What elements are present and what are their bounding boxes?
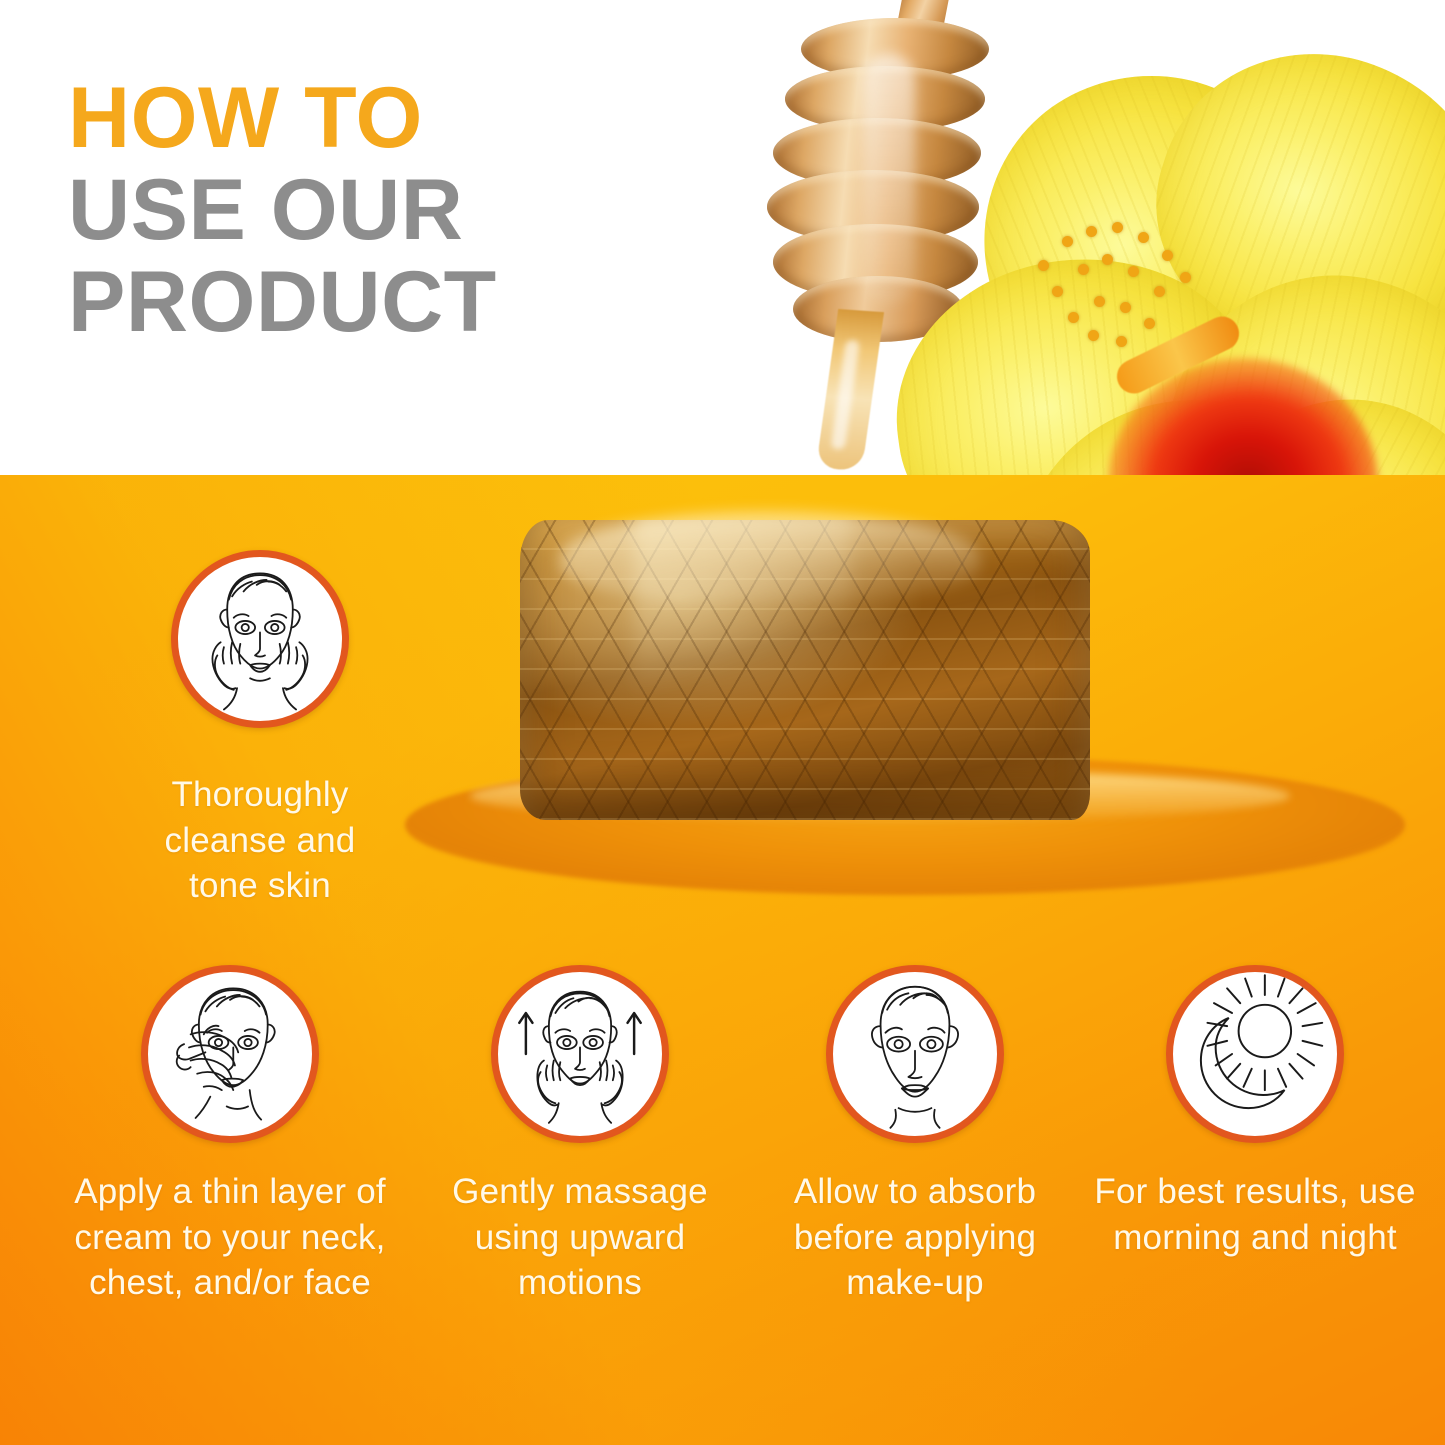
step-caption: For best results, use morning and night — [1090, 1169, 1420, 1260]
sun-and-moon-icon — [1166, 965, 1344, 1143]
face-massage-upward-arrows-icon — [491, 965, 669, 1143]
step-item-2: Apply a thin layer of cream to your neck… — [60, 965, 400, 1306]
step-caption: Gently massage using upward motions — [420, 1169, 740, 1306]
face-apply-cream-one-hand-icon — [141, 965, 319, 1143]
step-caption: Thoroughly cleanse and tone skin — [145, 772, 375, 909]
step-item-4: Allow to absorb before applying make-up — [760, 965, 1070, 1306]
step-item-3: Gently massage using upward motions — [420, 965, 740, 1306]
step-caption: Apply a thin layer of cream to your neck… — [60, 1169, 400, 1306]
title-line-2: USE OUR — [68, 164, 668, 256]
face-cleanse-two-hands-icon — [171, 550, 349, 728]
pollen-cluster — [1028, 220, 1218, 355]
step-item-5: For best results, use morning and night — [1090, 965, 1420, 1260]
header-card: HOW TO USE OUR PRODUCT — [0, 0, 700, 475]
step-item-1: Thoroughly cleanse and tone skin — [145, 550, 375, 909]
face-plain-icon — [826, 965, 1004, 1143]
honeycomb-sheen — [560, 512, 980, 602]
title-line-3: PRODUCT — [68, 256, 668, 348]
hibiscus-flower-icon — [900, 70, 1445, 480]
infographic-canvas: HOW TO USE OUR PRODUCT — [0, 0, 1445, 1445]
step-caption: Allow to absorb before applying make-up — [760, 1169, 1070, 1306]
title-line-1: HOW TO — [68, 72, 668, 164]
page-title: HOW TO USE OUR PRODUCT — [68, 72, 668, 348]
